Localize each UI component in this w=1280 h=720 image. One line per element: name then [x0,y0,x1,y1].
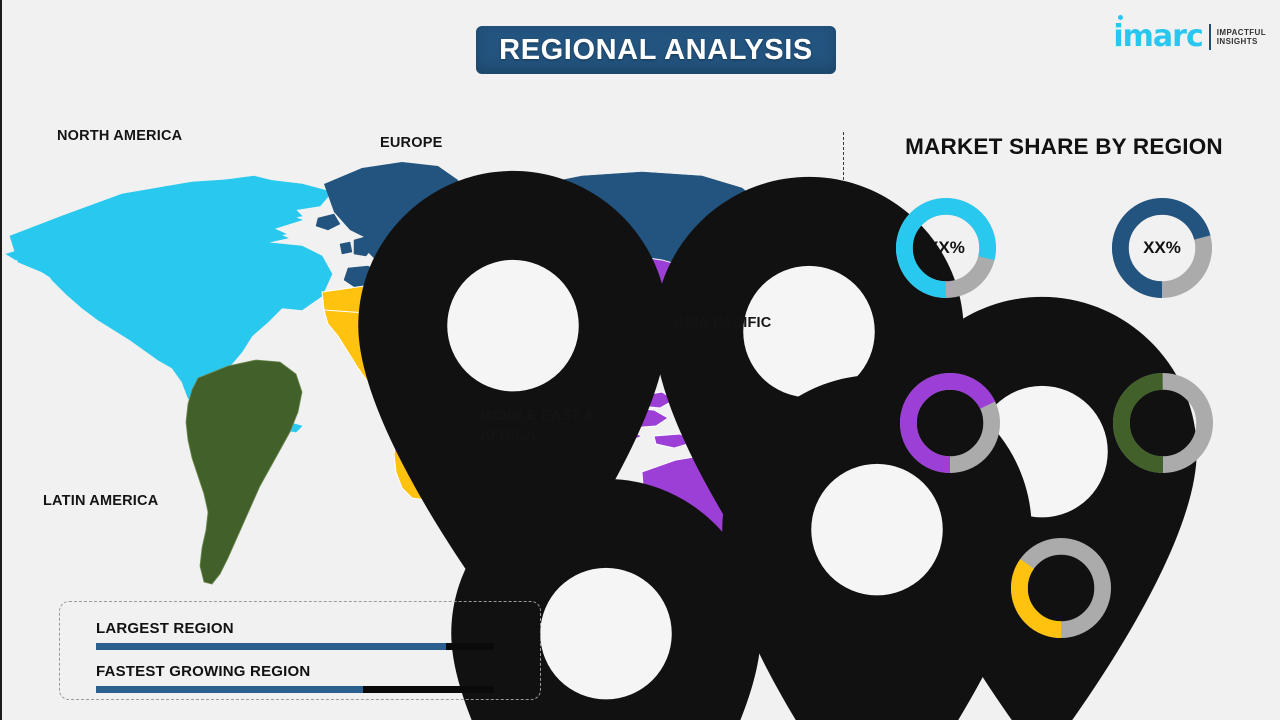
donut-chart-north-america: XX% [891,193,1001,303]
market-share-title: MARKET SHARE BY REGION [890,134,1238,160]
map-label-latin-america: LATIN AMERICA [43,492,158,512]
legend-bar-track [96,643,494,650]
imarc-logo: imarc IMPACTFUL INSIGHTS [1113,20,1266,54]
world-map [2,96,822,586]
legend-bar-fill [96,643,446,650]
donut-chart-latin-america: XX% [1108,368,1218,478]
page-title: REGIONAL ANALYSIS [499,34,813,67]
logo-divider [1209,24,1211,50]
page-title-banner: REGIONAL ANALYSIS [476,26,836,74]
legend-label: FASTEST GROWING REGION [96,663,310,680]
logo-wordmark: imarc [1113,22,1202,52]
map-label-asia-pacific: ASIA PACIFIC [674,314,771,334]
donut-chart-europe: XX% [1107,193,1217,303]
donut-chart-middle-east-africa: XX% [1006,533,1116,643]
donut-value-label: XX% [1006,533,1116,643]
map-label-north-america: NORTH AMERICA [57,127,182,147]
legend-row-fastest-growing-region: FASTEST GROWING REGION XX [96,663,506,693]
donut-value-label: XX% [895,368,1005,478]
legend-bar-fill [96,686,363,693]
legend-box: LARGEST REGION XX FASTEST GROWING REGION… [59,601,541,700]
donut-value-label: XX% [1108,368,1218,478]
donut-value-label: XX% [1107,193,1217,303]
legend-bar-track [96,686,494,693]
logo-tagline: IMPACTFUL INSIGHTS [1217,28,1266,46]
map-label-europe: EUROPE [380,134,442,154]
donut-value-label: XX% [891,193,1001,303]
donut-chart-asia-pacific: XX% [895,368,1005,478]
map-label-middle-east-africa: MIDDLE EAST & AFRICA [480,407,595,446]
legend-value: XX [465,663,484,679]
regional-analysis-infographic: REGIONAL ANALYSIS imarc IMPACTFUL INSIGH… [0,0,1280,720]
legend-label: LARGEST REGION [96,620,234,637]
legend-row-largest-region: LARGEST REGION XX [96,620,506,650]
legend-value: XX [465,620,484,636]
